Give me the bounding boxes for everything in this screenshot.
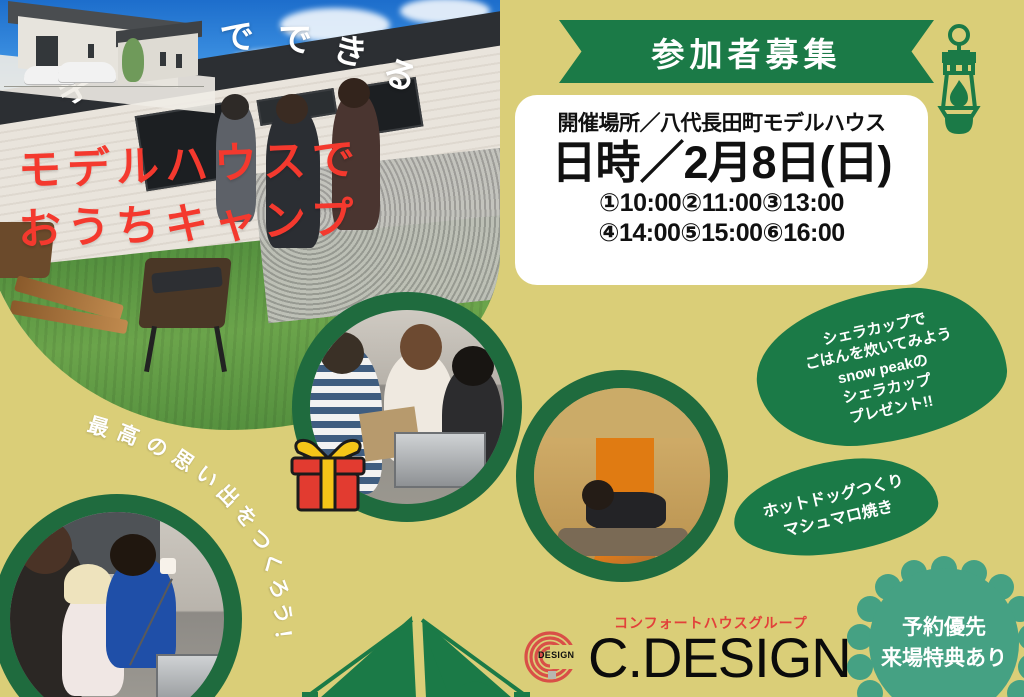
arch-char: で bbox=[276, 11, 313, 62]
arc-char: の bbox=[141, 428, 174, 464]
arch-char: で bbox=[218, 8, 257, 60]
event-info-card: 開催場所／八代長田町モデルハウス 日時／2月8日(日) ①10:00②11:00… bbox=[515, 95, 928, 285]
person-head bbox=[400, 324, 442, 370]
arc-char: 最 bbox=[84, 409, 112, 444]
lantern-icon bbox=[928, 22, 990, 138]
person-head bbox=[320, 332, 364, 374]
arc-char: 高 bbox=[113, 416, 144, 452]
house-fence bbox=[4, 86, 204, 87]
arch-char: る bbox=[376, 43, 427, 102]
event-times-line-2: ④14:00⑤15:00⑥16:00 bbox=[598, 218, 844, 249]
grill-stove bbox=[394, 432, 486, 488]
event-date: 日時／2月8日(日) bbox=[551, 139, 891, 188]
parked-car bbox=[58, 62, 116, 82]
brand-logo: コンフォートハウスグループ DESIGN C.DESIGN bbox=[514, 607, 854, 689]
tent-icon bbox=[300, 612, 530, 697]
headline-line-2: おうちキャンプ bbox=[17, 187, 499, 259]
gift-icon bbox=[286, 436, 370, 514]
house-window bbox=[160, 52, 166, 66]
badge-line-1: 予約優先 bbox=[902, 612, 986, 644]
badge-line-2: 来場特典あり bbox=[881, 643, 1007, 675]
photo-inner bbox=[534, 388, 710, 564]
banner-label: 参加者募集 bbox=[652, 28, 842, 76]
person-head bbox=[452, 346, 494, 386]
house-window bbox=[176, 54, 182, 68]
scallop-dot bbox=[847, 654, 873, 680]
tent-canopy bbox=[544, 388, 710, 438]
house-window bbox=[88, 44, 94, 58]
arch-char: き bbox=[329, 21, 374, 77]
arc-char: う bbox=[266, 599, 300, 627]
arc-char: ！ bbox=[268, 627, 301, 652]
event-place: 開催場所／八代長田町モデルハウス bbox=[558, 107, 886, 137]
grill-stove bbox=[156, 654, 224, 697]
event-times-line-1: ①10:00②11:00③13:00 bbox=[599, 188, 844, 219]
house-tree bbox=[122, 38, 144, 82]
sleeping-mat bbox=[558, 528, 688, 556]
callout-leaf-sierra-text: シェラカップで ごはんを炊いてみよう snow peakの シェラカップ プレゼ… bbox=[756, 278, 1010, 463]
scallop-dot bbox=[1007, 680, 1024, 697]
banner-recruit: 参加者募集 bbox=[559, 20, 934, 83]
logo-mark-text: DESIGN bbox=[538, 650, 574, 660]
house-door bbox=[36, 36, 58, 66]
main-headline: モデルハウスで おうちキャンプ bbox=[18, 136, 498, 266]
arc-char: ろ bbox=[262, 573, 297, 603]
flyer-canvas: 手 ぶ ら で で き る モデルハウスで おうちキャンプ 参加者募集 開催場所… bbox=[0, 0, 1024, 697]
child-head bbox=[582, 480, 614, 510]
scallop-dot bbox=[857, 680, 883, 697]
scallop-dot bbox=[1018, 654, 1024, 680]
reservation-badge: 予約優先 来場特典あり bbox=[855, 556, 1024, 697]
photo-tent-kid bbox=[516, 370, 728, 582]
logo-name: C.DESIGN bbox=[588, 625, 851, 690]
